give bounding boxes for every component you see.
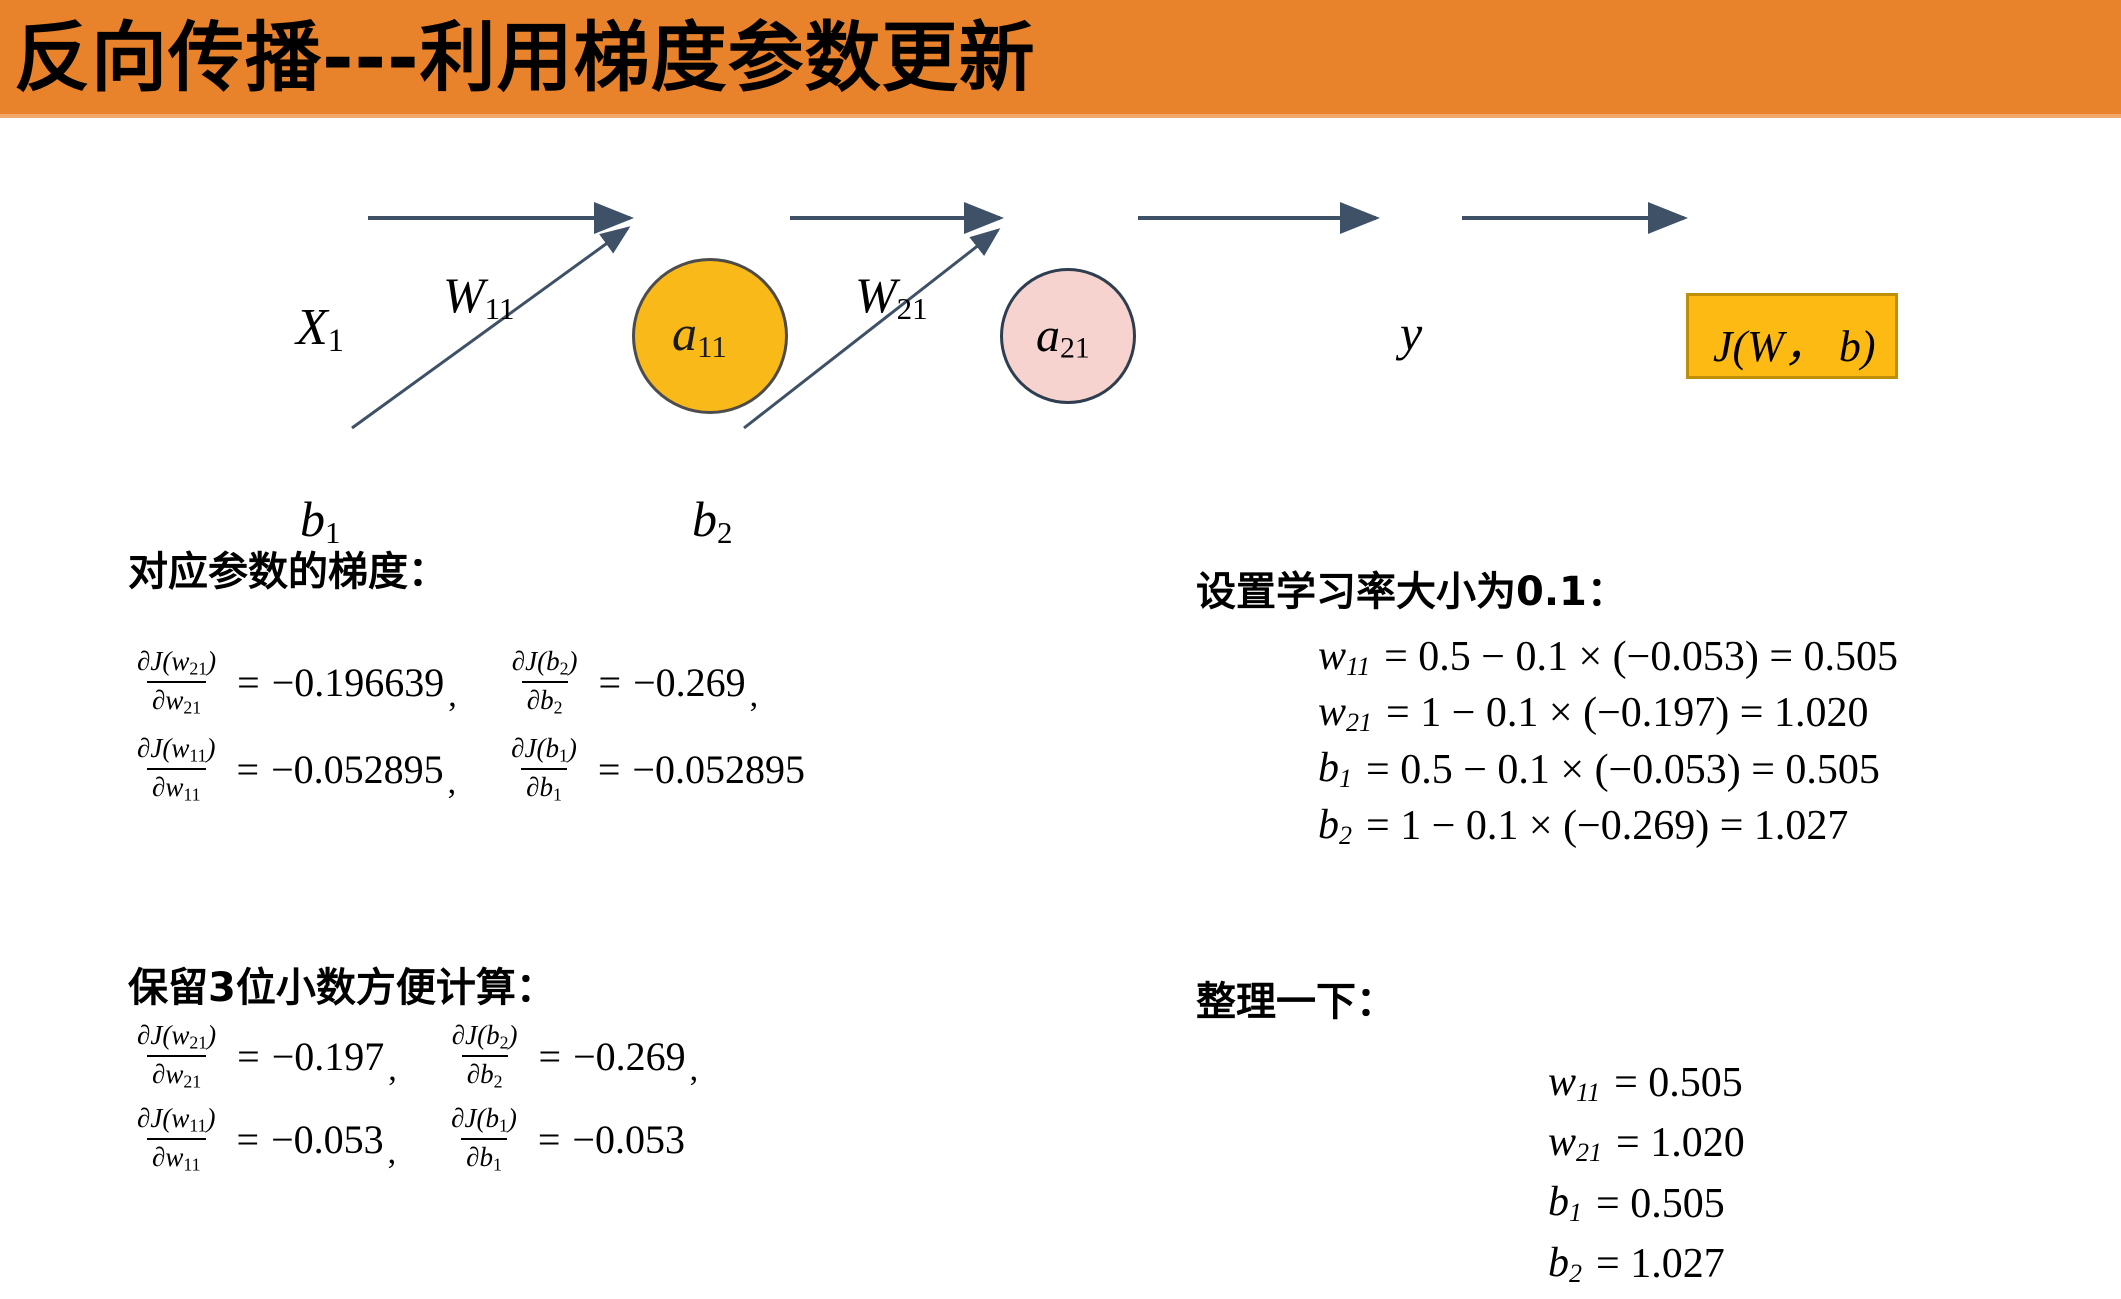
fraction: ∂J(w11) ∂w11 (132, 733, 221, 806)
network-diagram: X1 W11 W21 b1 b2 a11 a21 y J(W， b) (0, 118, 2121, 458)
node-label-a21: a21 (1036, 308, 1090, 366)
parameter-symbol: w11 (1548, 1058, 1600, 1108)
bias-label-b1: b1 (300, 490, 341, 551)
weight-label-w21: W21 (855, 266, 928, 327)
learning-rate-section: 设置学习率大小为0.1： w11 = 0.5 − 0.1 × (−0.053) … (1196, 566, 1898, 857)
equals-sign: = (237, 746, 260, 793)
fraction: ∂J(w21) ∂w21 (132, 646, 221, 719)
fraction: ∂J(b1) ∂b1 (506, 733, 582, 806)
learning-rate-heading: 设置学习率大小为0.1： (1196, 566, 1898, 618)
math-row: ∂J(w11) ∂w11 = −0.052895 , ∂J(b1) ∂b1 = … (128, 733, 809, 806)
input-label-x1: X1 (296, 298, 344, 359)
comma: , (690, 1051, 699, 1093)
math-row: w21 = 1.020 (1548, 1118, 1745, 1168)
gradients-heading: 对应参数的梯度： (128, 546, 809, 598)
gradient-value: −0.053 (572, 1116, 685, 1163)
math-row: w11 = 0.5 − 0.1 × (−0.053) = 0.505 (1318, 632, 1898, 682)
gradient-value: −0.196639 (272, 659, 445, 706)
gradients-section: 对应参数的梯度： ∂J(w21) ∂w21 = −0.196639 , ∂J(b… (128, 546, 809, 820)
parameter-symbol: w21 (1548, 1118, 1602, 1168)
parameter-symbol: w21 (1318, 688, 1372, 738)
gradient-value: −0.269 (633, 659, 746, 706)
gradient-value: −0.269 (573, 1033, 686, 1080)
summary-rows: w11 = 0.505 w21 = 1.020 b1 = 0.505 b2 = … (1548, 1058, 1745, 1289)
parameter-symbol: b2 (1318, 801, 1352, 851)
math-row: ∂J(w21) ∂w21 = −0.197 , ∂J(b2) ∂b2 = −0.… (128, 1020, 698, 1093)
fraction: ∂J(w21) ∂w21 (132, 1020, 221, 1093)
parameter-value: = 1.020 (1616, 1119, 1745, 1167)
fraction: ∂J(b2) ∂b2 (507, 646, 583, 719)
parameter-symbol: b2 (1548, 1239, 1582, 1289)
equals-sign: = (237, 659, 260, 706)
fraction: ∂J(w11) ∂w11 (132, 1103, 221, 1176)
comma: , (388, 1134, 397, 1176)
gradient-value: −0.052895 (632, 746, 805, 793)
arrow-b1-to-a11 (352, 228, 628, 428)
learning-rate-rows: w11 = 0.5 − 0.1 × (−0.053) = 0.505 w21 =… (1318, 632, 1898, 851)
math-row: b1 = 0.505 (1548, 1178, 1745, 1228)
math-row: b2 = 1 − 0.1 × (−0.269) = 1.027 (1318, 801, 1898, 851)
equals-sign: = (237, 1033, 260, 1080)
bias-label-b2: b2 (692, 490, 733, 551)
gradient-value: −0.053 (271, 1116, 384, 1163)
equals-sign: = (538, 1116, 561, 1163)
update-expression: = 1 − 0.1 × (−0.269) = 1.027 (1366, 802, 1848, 850)
gradient-value: −0.052895 (271, 746, 444, 793)
parameter-symbol: b1 (1548, 1178, 1582, 1228)
output-label-y: y (1400, 304, 1422, 362)
update-expression: = 0.5 − 0.1 × (−0.053) = 0.505 (1384, 633, 1898, 681)
math-row: b1 = 0.5 − 0.1 × (−0.053) = 0.505 (1318, 744, 1898, 794)
rounded-rows: ∂J(w21) ∂w21 = −0.197 , ∂J(b2) ∂b2 = −0.… (128, 1020, 698, 1176)
comma: , (448, 677, 457, 719)
gradient-value: −0.197 (272, 1033, 385, 1080)
equals-sign: = (599, 659, 622, 706)
gradients-rows: ∂J(w21) ∂w21 = −0.196639 , ∂J(b2) ∂b2 = … (128, 646, 809, 806)
weight-label-w11: W11 (443, 266, 515, 327)
node-label-a11: a11 (672, 304, 727, 365)
equals-sign: = (539, 1033, 562, 1080)
update-expression: = 1 − 0.1 × (−0.197) = 1.020 (1386, 689, 1868, 737)
parameter-value: = 0.505 (1596, 1180, 1725, 1228)
parameter-value: = 1.027 (1596, 1240, 1725, 1288)
equals-sign: = (598, 746, 621, 793)
update-expression: = 0.5 − 0.1 × (−0.053) = 0.505 (1366, 746, 1880, 794)
math-row: b2 = 1.027 (1548, 1239, 1745, 1289)
comma: , (448, 764, 457, 806)
header-band: 反向传播---利用梯度参数更新 (0, 0, 2121, 118)
math-row: w21 = 1 − 0.1 × (−0.197) = 1.020 (1318, 688, 1898, 738)
equals-sign: = (237, 1116, 260, 1163)
cost-function-label: J(W， b) (1713, 310, 1876, 374)
summary-heading: 整理一下： (1196, 976, 1745, 1028)
fraction: ∂J(b2) ∂b2 (447, 1020, 523, 1093)
comma: , (388, 1051, 397, 1093)
fraction: ∂J(b1) ∂b1 (446, 1103, 522, 1176)
summary-section: 整理一下： w11 = 0.505 w21 = 1.020 b1 = 0.505… (1196, 976, 1745, 1299)
math-row: ∂J(w11) ∂w11 = −0.053 , ∂J(b1) ∂b1 = −0.… (128, 1103, 698, 1176)
comma: , (750, 677, 759, 719)
math-row: ∂J(w21) ∂w21 = −0.196639 , ∂J(b2) ∂b2 = … (128, 646, 809, 719)
rounded-heading: 保留3位小数方便计算： (128, 962, 698, 1014)
math-row: w11 = 0.505 (1548, 1058, 1745, 1108)
page-title: 反向传播---利用梯度参数更新 (14, 6, 1036, 110)
parameter-symbol: b1 (1318, 744, 1352, 794)
parameter-symbol: w11 (1318, 632, 1370, 682)
parameter-value: = 0.505 (1614, 1059, 1743, 1107)
rounded-section: 保留3位小数方便计算： ∂J(w21) ∂w21 = −0.197 , ∂J(b… (128, 962, 698, 1186)
